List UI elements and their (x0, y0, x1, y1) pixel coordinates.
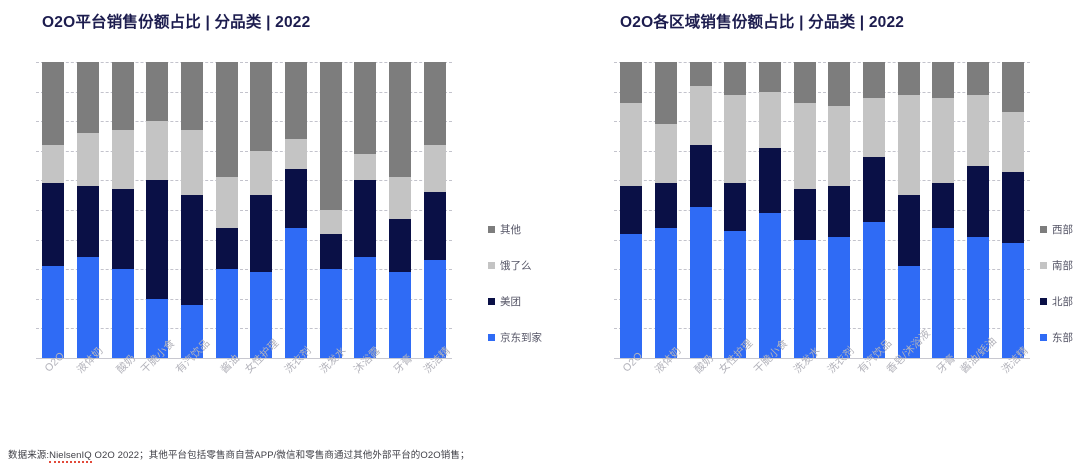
bar-segment[interactable] (932, 62, 954, 98)
bars-platform-share (36, 62, 452, 358)
bar-segment[interactable] (1002, 62, 1024, 112)
bar-segment[interactable] (620, 103, 642, 186)
bar-segment[interactable] (655, 124, 677, 183)
legend-item[interactable]: 其他 (488, 222, 542, 237)
bar-segment[interactable] (967, 62, 989, 95)
bar-segment[interactable] (354, 180, 376, 257)
legend-item[interactable]: 美团 (488, 294, 542, 309)
x-label-slot: 洗衣剂 (279, 360, 314, 430)
bar-segment[interactable] (42, 145, 64, 183)
x-label-slot: O2O (36, 360, 71, 430)
bar-segment[interactable] (690, 207, 712, 358)
bar-segment[interactable] (424, 145, 446, 192)
bar-segment[interactable] (655, 183, 677, 227)
stacked-bar[interactable] (967, 62, 989, 358)
x-label-slot: 酱油 (209, 360, 244, 430)
legend-label: 其他 (500, 222, 521, 237)
bar-segment[interactable] (759, 92, 781, 148)
bar-segment[interactable] (424, 192, 446, 260)
bar-segment[interactable] (77, 186, 99, 257)
legend-label: 东部 (1052, 330, 1073, 345)
bar-segment[interactable] (863, 62, 885, 98)
legend-label: 南部 (1052, 258, 1073, 273)
bar-segment[interactable] (424, 62, 446, 145)
stacked-bar[interactable] (250, 62, 272, 358)
bar-segment[interactable] (77, 62, 99, 133)
legend-swatch-icon (488, 298, 495, 305)
bar-slot[interactable] (753, 62, 788, 358)
x-label-slot: 液体奶 (649, 360, 684, 430)
bar-segment[interactable] (794, 62, 816, 103)
stacked-bar[interactable] (216, 62, 238, 358)
stacked-bar[interactable] (77, 62, 99, 358)
footnote-prefix: 数据来源: (8, 450, 49, 461)
bar-segment[interactable] (389, 177, 411, 218)
bar-segment[interactable] (759, 213, 781, 358)
stacked-bar[interactable] (424, 62, 446, 358)
bar-segment[interactable] (759, 148, 781, 213)
bar-slot[interactable] (348, 62, 383, 358)
stacked-bar[interactable] (285, 62, 307, 358)
bar-segment[interactable] (216, 228, 238, 269)
bar-slot[interactable] (961, 62, 996, 358)
x-label-slot: 有汽饮品 (175, 360, 210, 430)
legend-label: 京东到家 (500, 330, 542, 345)
bar-slot[interactable] (417, 62, 452, 358)
x-label-slot: 牙膏 (383, 360, 418, 430)
stacked-bar[interactable] (146, 62, 168, 358)
footnote-source: NielsenIQ (49, 450, 92, 463)
bar-segment[interactable] (690, 145, 712, 207)
bar-slot[interactable] (995, 62, 1030, 358)
bar-segment[interactable] (250, 195, 272, 272)
x-label-slot: 液体奶 (71, 360, 106, 430)
x-label-slot: 牙膏 (926, 360, 961, 430)
x-label-slot: 洗洁精 (995, 360, 1030, 430)
bar-segment[interactable] (863, 98, 885, 157)
legend-label: 西部 (1052, 222, 1073, 237)
x-label-slot: 酱油/蚝油 (961, 360, 996, 430)
bar-segment[interactable] (285, 62, 307, 139)
chart-title-region-share: O2O各区域销售份额占比 | 分品类 | 2022 (620, 10, 904, 32)
legend-item[interactable]: 南部 (1040, 258, 1073, 273)
bar-segment[interactable] (216, 177, 238, 227)
bar-segment[interactable] (1002, 172, 1024, 243)
bar-slot[interactable] (244, 62, 279, 358)
legend-swatch-icon (488, 226, 495, 233)
chart-panel-platform-share: O2O平台销售份额占比 | 分品类 | 2022 O2O液体奶酸奶干脆小食有汽饮… (0, 0, 540, 440)
bar-slot[interactable] (175, 62, 210, 358)
stacked-bar[interactable] (690, 62, 712, 358)
bar-segment[interactable] (724, 95, 746, 184)
bar-slot[interactable] (857, 62, 892, 358)
bar-segment[interactable] (690, 86, 712, 145)
x-label-slot: 女性护理 (718, 360, 753, 430)
bars-region-share (614, 62, 1030, 358)
bar-segment[interactable] (620, 234, 642, 358)
bar-segment[interactable] (1002, 243, 1024, 358)
legend-item[interactable]: 西部 (1040, 222, 1073, 237)
x-label-slot: 洗发水 (313, 360, 348, 430)
bar-segment[interactable] (794, 103, 816, 189)
bar-segment[interactable] (759, 62, 781, 92)
legend-item[interactable]: 东部 (1040, 330, 1073, 345)
bar-segment[interactable] (320, 62, 342, 210)
bar-segment[interactable] (354, 62, 376, 154)
bar-segment[interactable] (389, 219, 411, 272)
bar-segment[interactable] (898, 62, 920, 95)
bar-segment[interactable] (146, 180, 168, 298)
bar-segment[interactable] (181, 62, 203, 130)
x-label-slot: O2O (614, 360, 649, 430)
stacked-bar[interactable] (724, 62, 746, 358)
bar-slot[interactable] (105, 62, 140, 358)
legend-swatch-icon (1040, 298, 1047, 305)
bar-segment[interactable] (42, 183, 64, 266)
x-label-slot: 干脆小食 (140, 360, 175, 430)
bar-segment[interactable] (181, 130, 203, 195)
legend-label: 北部 (1052, 294, 1073, 309)
bar-segment[interactable] (655, 228, 677, 358)
bar-segment[interactable] (828, 106, 850, 186)
bar-segment[interactable] (724, 183, 746, 230)
bar-segment[interactable] (932, 183, 954, 227)
bar-slot[interactable] (140, 62, 175, 358)
bar-slot[interactable] (279, 62, 314, 358)
bar-segment[interactable] (389, 272, 411, 358)
bar-segment[interactable] (932, 228, 954, 358)
bar-slot[interactable] (71, 62, 106, 358)
bar-slot[interactable] (649, 62, 684, 358)
legend-label: 美团 (500, 294, 521, 309)
slide-canvas: O2O平台销售份额占比 | 分品类 | 2022 O2O液体奶酸奶干脆小食有汽饮… (0, 0, 1080, 472)
bar-slot[interactable] (718, 62, 753, 358)
bar-slot[interactable] (383, 62, 418, 358)
bar-segment[interactable] (112, 189, 134, 269)
bar-segment[interactable] (112, 130, 134, 189)
bar-segment[interactable] (112, 269, 134, 358)
bar-segment[interactable] (898, 195, 920, 266)
bar-segment[interactable] (794, 240, 816, 358)
legend-swatch-icon (1040, 334, 1047, 341)
bar-segment[interactable] (285, 169, 307, 228)
x-label-slot: 洗发水 (787, 360, 822, 430)
plot-area-region-share (614, 62, 1030, 358)
bar-segment[interactable] (285, 228, 307, 358)
bar-segment[interactable] (863, 157, 885, 222)
stacked-bar[interactable] (389, 62, 411, 358)
legend-swatch-icon (488, 262, 495, 269)
legend-item[interactable]: 北部 (1040, 294, 1073, 309)
bar-slot[interactable] (683, 62, 718, 358)
bar-segment[interactable] (250, 151, 272, 195)
plot-area-platform-share (36, 62, 452, 358)
bar-slot[interactable] (313, 62, 348, 358)
x-label-slot: 洗洁精 (417, 360, 452, 430)
legend-item[interactable]: 京东到家 (488, 330, 542, 345)
x-label-slot: 香皂/沐浴液 (891, 360, 926, 430)
bar-segment[interactable] (724, 62, 746, 95)
bar-slot[interactable] (787, 62, 822, 358)
bar-segment[interactable] (690, 62, 712, 86)
bar-segment[interactable] (655, 62, 677, 124)
footnote: 数据来源:NielsenIQ O2O 2022；其他平台包括零售商自营APP/微… (8, 447, 470, 461)
bar-segment[interactable] (620, 62, 642, 103)
bar-slot[interactable] (209, 62, 244, 358)
stacked-bar[interactable] (794, 62, 816, 358)
stacked-bar[interactable] (898, 62, 920, 358)
bar-segment[interactable] (181, 195, 203, 305)
x-axis-labels-platform-share: O2O液体奶酸奶干脆小食有汽饮品酱油女性护理洗衣剂洗发水沐浴露牙膏洗洁精 (36, 360, 452, 430)
bar-slot[interactable] (614, 62, 649, 358)
stacked-bar[interactable] (620, 62, 642, 358)
bar-segment[interactable] (216, 269, 238, 358)
x-label-slot: 酸奶 (683, 360, 718, 430)
bar-segment[interactable] (794, 189, 816, 239)
bar-segment[interactable] (42, 62, 64, 145)
stacked-bar[interactable] (932, 62, 954, 358)
legend-swatch-icon (488, 334, 495, 341)
x-label-slot: 洗衣剂 (822, 360, 857, 430)
stacked-bar[interactable] (863, 62, 885, 358)
bar-segment[interactable] (967, 95, 989, 166)
stacked-bar[interactable] (320, 62, 342, 358)
stacked-bar[interactable] (655, 62, 677, 358)
bar-segment[interactable] (828, 186, 850, 236)
x-label-slot: 有汽饮品 (857, 360, 892, 430)
stacked-bar[interactable] (112, 62, 134, 358)
bar-slot[interactable] (36, 62, 71, 358)
legend-swatch-icon (1040, 262, 1047, 269)
stacked-bar[interactable] (354, 62, 376, 358)
bar-segment[interactable] (320, 210, 342, 234)
bar-segment[interactable] (320, 234, 342, 270)
bar-segment[interactable] (146, 121, 168, 180)
stacked-bar[interactable] (181, 62, 203, 358)
bar-segment[interactable] (216, 62, 238, 177)
bar-segment[interactable] (967, 166, 989, 237)
legend-platform-share: 其他饿了么美团京东到家 (488, 222, 542, 345)
stacked-bar[interactable] (759, 62, 781, 358)
bar-segment[interactable] (42, 266, 64, 358)
bar-segment[interactable] (146, 62, 168, 121)
bar-segment[interactable] (389, 62, 411, 177)
bar-segment[interactable] (932, 98, 954, 184)
bar-segment[interactable] (77, 133, 99, 186)
x-label-slot: 干脆小食 (753, 360, 788, 430)
x-label-slot: 女性护理 (244, 360, 279, 430)
bar-segment[interactable] (620, 186, 642, 233)
stacked-bar[interactable] (1002, 62, 1024, 358)
bar-segment[interactable] (285, 139, 307, 169)
legend-region-share: 西部南部北部东部 (1040, 222, 1073, 345)
bar-segment[interactable] (898, 95, 920, 196)
legend-swatch-icon (1040, 226, 1047, 233)
legend-item[interactable]: 饿了么 (488, 258, 542, 273)
legend-label: 饿了么 (500, 258, 532, 273)
stacked-bar[interactable] (828, 62, 850, 358)
bar-segment[interactable] (1002, 112, 1024, 171)
bar-segment[interactable] (112, 62, 134, 130)
bar-slot[interactable] (822, 62, 857, 358)
bar-segment[interactable] (354, 154, 376, 181)
chart-panel-region-share: O2O各区域销售份额占比 | 分品类 | 2022 O2O液体奶酸奶女性护理干脆… (540, 0, 1080, 440)
bar-segment[interactable] (828, 237, 850, 358)
stacked-bar[interactable] (42, 62, 64, 358)
chart-title-platform-share: O2O平台销售份额占比 | 分品类 | 2022 (42, 10, 310, 32)
x-label-slot: 沐浴露 (348, 360, 383, 430)
x-label-slot: 酸奶 (105, 360, 140, 430)
bar-slot[interactable] (891, 62, 926, 358)
bar-segment[interactable] (250, 62, 272, 151)
bar-segment[interactable] (828, 62, 850, 106)
x-axis-labels-region-share: O2O液体奶酸奶女性护理干脆小食洗发水洗衣剂有汽饮品香皂/沐浴液牙膏酱油/蚝油洗… (614, 360, 1030, 430)
bar-slot[interactable] (926, 62, 961, 358)
footnote-rest: O2O 2022；其他平台包括零售商自营APP/微信和零售商通过其他外部平台的O… (92, 450, 470, 461)
